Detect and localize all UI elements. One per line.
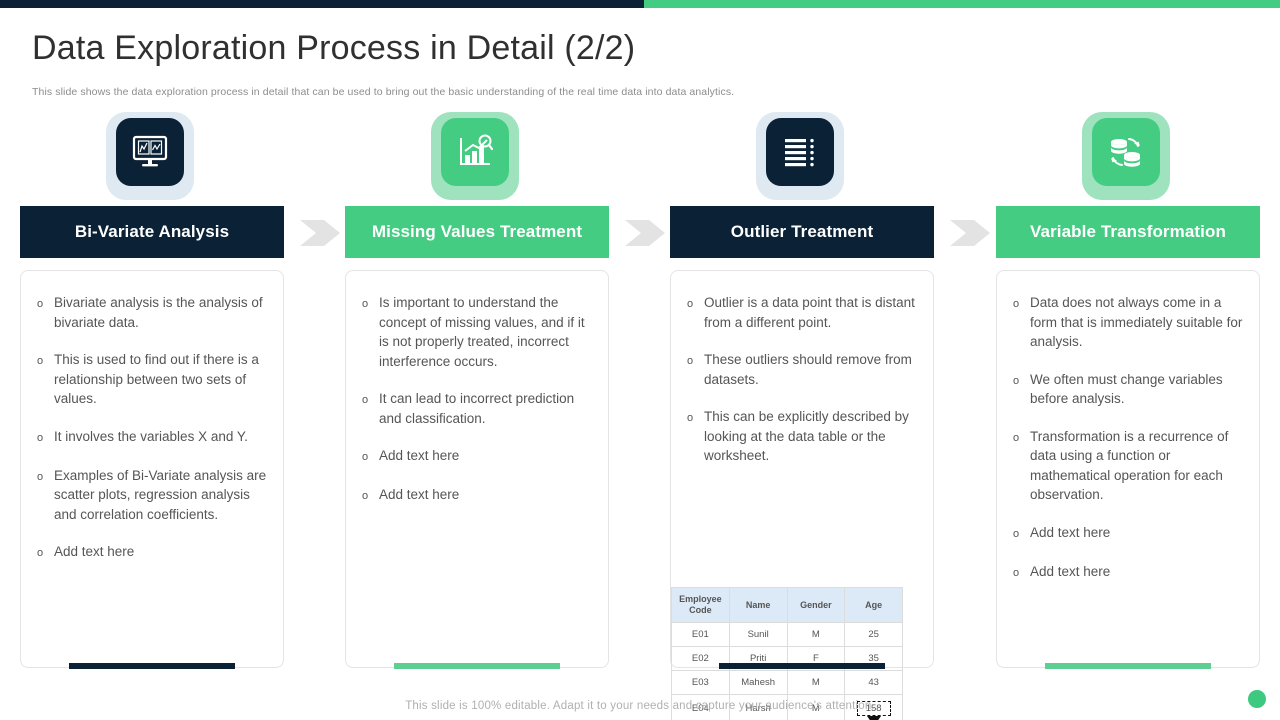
- bullet-text: These outliers should remove from datase…: [704, 350, 917, 389]
- top-accent-navy: [0, 0, 644, 8]
- column-header-variable-transformation[interactable]: Variable Transformation: [996, 206, 1260, 258]
- icon-badge-inner: [441, 118, 509, 186]
- card-accent-bar: [394, 663, 560, 669]
- table-column-header: Age: [845, 588, 903, 623]
- table-column-header: Employee Code: [672, 588, 730, 623]
- bullet-text: Bivariate analysis is the analysis of bi…: [54, 293, 267, 332]
- bullet-text: Outlier is a data point that is distant …: [704, 293, 917, 332]
- bullet-marker: o: [687, 350, 704, 389]
- bullet-text: Examples of Bi-Variate analysis are scat…: [54, 466, 267, 525]
- bullet-text: Add text here: [1030, 523, 1110, 544]
- footer-note: This slide is 100% editable. Adapt it to…: [0, 700, 1280, 712]
- card-accent-bar: [69, 663, 235, 669]
- bullet-marker: o: [37, 293, 54, 332]
- column-variable-transformation: Variable Transformation oData does not a…: [996, 112, 1260, 204]
- icon-badge-wrap: [345, 112, 609, 204]
- bullet-marker: o: [362, 485, 379, 506]
- list-item: oWe often must change variables before a…: [1013, 370, 1243, 409]
- icon-badge-inner: [766, 118, 834, 186]
- page-title: Data Exploration Process in Detail (2/2): [32, 29, 635, 68]
- icon-badge-outer: [1082, 112, 1170, 200]
- database-refresh-icon: [1107, 134, 1145, 170]
- list-item: oAdd text here: [37, 542, 267, 563]
- top-accent-green: [644, 0, 1280, 8]
- column-header-label: Variable Transformation: [1030, 222, 1226, 242]
- icon-badge-outer: [106, 112, 194, 200]
- column-body-card: oIs important to understand the concept …: [345, 270, 609, 668]
- list-item: oData does not always come in a form tha…: [1013, 293, 1243, 352]
- table-column-header: Name: [729, 588, 787, 623]
- bullet-marker: o: [1013, 293, 1030, 352]
- bullet-marker: o: [1013, 370, 1030, 409]
- bullet-marker: o: [37, 466, 54, 525]
- column-body-card: oOutlier is a data point that is distant…: [670, 270, 934, 668]
- table-header-row: Employee Code Name Gender Age: [672, 588, 903, 623]
- column-bi-variate-analysis: Bi-Variate Analysis oBivariate analysis …: [20, 112, 284, 204]
- column-header-outlier-treatment[interactable]: Outlier Treatment: [670, 206, 934, 258]
- bullet-text: Add text here: [379, 485, 459, 506]
- list-item: oAdd text here: [1013, 523, 1243, 544]
- bullet-text: Add text here: [54, 542, 134, 563]
- bullet-marker: o: [37, 350, 54, 409]
- list-item: oOutlier is a data point that is distant…: [687, 293, 917, 332]
- column-body-card: oBivariate analysis is the analysis of b…: [20, 270, 284, 668]
- list-item: oAdd text here: [362, 485, 592, 506]
- columns-container: Bi-Variate Analysis oBivariate analysis …: [0, 112, 1280, 672]
- bullet-marker: o: [362, 446, 379, 467]
- bar-chart-magnifier-icon: [456, 134, 494, 170]
- list-item: oAdd text here: [1013, 562, 1243, 583]
- column-outlier-treatment: Outlier Treatment oOutlier is a data poi…: [670, 112, 934, 204]
- column-header-missing-values-treatment[interactable]: Missing Values Treatment: [345, 206, 609, 258]
- card-accent-bar: [1045, 663, 1211, 669]
- bullet-marker: o: [687, 407, 704, 466]
- list-item: oIt involves the variables X and Y.: [37, 427, 267, 448]
- bullet-marker: o: [1013, 427, 1030, 505]
- bullet-marker: o: [37, 542, 54, 563]
- bullet-text: Add text here: [379, 446, 459, 467]
- corner-dot-decoration: [1248, 690, 1266, 708]
- column-body-card: oData does not always come in a form tha…: [996, 270, 1260, 668]
- bullet-text: It involves the variables X and Y.: [54, 427, 248, 448]
- table-cell: M: [787, 623, 845, 647]
- bullet-marker: o: [362, 389, 379, 428]
- bullet-marker: o: [362, 293, 379, 371]
- icon-badge-outer: [431, 112, 519, 200]
- list-item: oBivariate analysis is the analysis of b…: [37, 293, 267, 332]
- list-lines-icon: [782, 136, 818, 168]
- bullet-text: Add text here: [1030, 562, 1110, 583]
- bullet-text: This is used to find out if there is a r…: [54, 350, 267, 409]
- monitor-chart-icon: [131, 135, 169, 169]
- list-item: oThis can be explicitly described by loo…: [687, 407, 917, 466]
- icon-badge-outer: [756, 112, 844, 200]
- chevron-right-icon: [625, 220, 669, 246]
- chevron-right-icon: [950, 220, 994, 246]
- top-accent-bar: [0, 0, 1280, 8]
- table-column-header: Gender: [787, 588, 845, 623]
- bullet-text: We often must change variables before an…: [1030, 370, 1243, 409]
- column-header-label: Outlier Treatment: [731, 222, 873, 242]
- list-item: oExamples of Bi-Variate analysis are sca…: [37, 466, 267, 525]
- list-item: oThese outliers should remove from datas…: [687, 350, 917, 389]
- table-cell: M: [787, 671, 845, 695]
- table-row: E01 Sunil M 25: [672, 623, 903, 647]
- table-cell: E03: [672, 671, 730, 695]
- bullet-text: It can lead to incorrect prediction and …: [379, 389, 592, 428]
- bullet-marker: o: [37, 427, 54, 448]
- bullet-text: Transformation is a recurrence of data u…: [1030, 427, 1243, 505]
- icon-badge-wrap: [670, 112, 934, 204]
- icon-badge-wrap: [20, 112, 284, 204]
- list-item: oThis is used to find out if there is a …: [37, 350, 267, 409]
- table-cell: Mahesh: [729, 671, 787, 695]
- table-cell: 43: [845, 671, 903, 695]
- bullet-text: Data does not always come in a form that…: [1030, 293, 1243, 352]
- page-subtitle: This slide shows the data exploration pr…: [32, 86, 734, 98]
- table-cell: E01: [672, 623, 730, 647]
- list-item: oIs important to understand the concept …: [362, 293, 592, 371]
- column-header-label: Missing Values Treatment: [372, 222, 582, 242]
- column-header-label: Bi-Variate Analysis: [75, 222, 229, 242]
- card-accent-bar: [719, 663, 885, 669]
- outlier-pointer-icon: [867, 716, 881, 720]
- column-missing-values-treatment: Missing Values Treatment oIs important t…: [345, 112, 609, 204]
- icon-badge-inner: [1092, 118, 1160, 186]
- list-item: oAdd text here: [362, 446, 592, 467]
- bullet-text: Is important to understand the concept o…: [379, 293, 592, 371]
- bullet-marker: o: [687, 293, 704, 332]
- bullet-text: This can be explicitly described by look…: [704, 407, 917, 466]
- chevron-right-icon: [300, 220, 344, 246]
- icon-badge-inner: [116, 118, 184, 186]
- icon-badge-wrap: [996, 112, 1260, 204]
- table-cell: Sunil: [729, 623, 787, 647]
- table-row: E03 Mahesh M 43: [672, 671, 903, 695]
- column-header-bi-variate-analysis[interactable]: Bi-Variate Analysis: [20, 206, 284, 258]
- table-cell: 25: [845, 623, 903, 647]
- list-item: oTransformation is a recurrence of data …: [1013, 427, 1243, 505]
- bullet-marker: o: [1013, 562, 1030, 583]
- slide-root: Data Exploration Process in Detail (2/2)…: [0, 0, 1280, 720]
- list-item: oIt can lead to incorrect prediction and…: [362, 389, 592, 428]
- bullet-marker: o: [1013, 523, 1030, 544]
